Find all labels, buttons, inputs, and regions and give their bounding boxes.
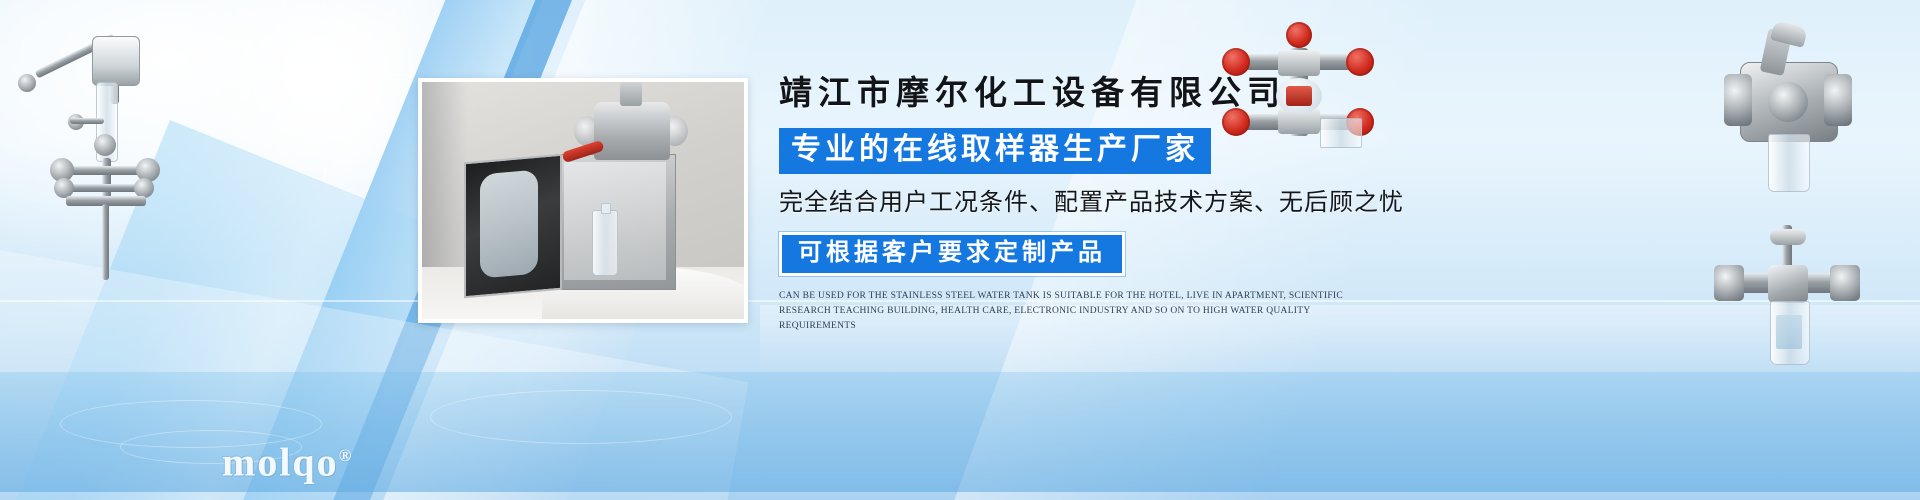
registered-mark-icon: ® xyxy=(339,446,354,465)
sampler-cabinet-photo xyxy=(418,78,748,323)
custom-product-badge: 可根据客户要求定制产品 xyxy=(779,232,1125,276)
inline-sampler-icon xyxy=(1712,225,1872,405)
product-banner: 靖江市摩尔化工设备有限公司 专业的在线取样器生产厂家 完全结合用户工况条件、配置… xyxy=(0,0,1920,500)
sampling-valve-assembly-icon xyxy=(10,18,190,288)
watermark-text: molqo xyxy=(222,440,339,485)
cross-valve-manifold-icon xyxy=(1216,22,1382,152)
ripple xyxy=(430,390,732,444)
english-description: CAN BE USED FOR THE STAINLESS STEEL WATE… xyxy=(779,289,1379,334)
watermark-logo: molqo® xyxy=(222,439,353,486)
slogan-highlight: 专业的在线取样器生产厂家 xyxy=(779,128,1211,174)
subtitle: 完全结合用户工况条件、配置产品技术方案、无后顾之忧 xyxy=(779,188,1399,218)
flanged-valve-body-icon xyxy=(1706,30,1866,210)
